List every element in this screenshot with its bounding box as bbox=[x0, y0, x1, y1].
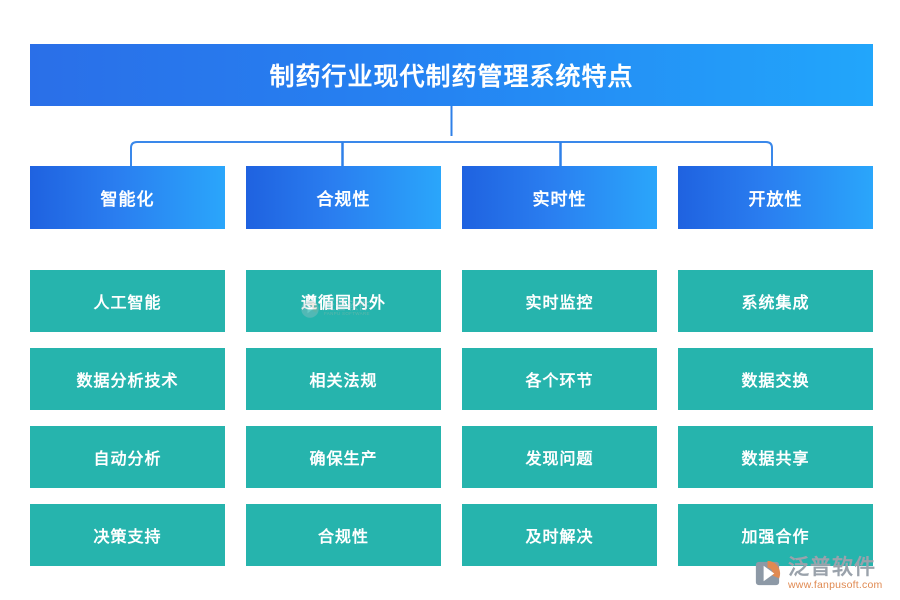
item-label: 及时解决 bbox=[525, 523, 593, 547]
brand-texts: 泛普软件 www.fanpusoft.com bbox=[788, 557, 882, 591]
item-box[interactable]: 各个环节 bbox=[462, 348, 657, 410]
item-box[interactable]: 实时监控 bbox=[462, 270, 657, 332]
item-label: 加强合作 bbox=[741, 523, 809, 547]
item-label: 决策支持 bbox=[93, 523, 161, 547]
fanpu-logo-icon bbox=[752, 558, 783, 589]
item-box[interactable]: 相关法规 bbox=[246, 348, 441, 410]
item-box[interactable]: 遵循国内外 bbox=[246, 270, 441, 332]
item-box[interactable]: 确保生产 bbox=[246, 426, 441, 488]
item-label: 发现问题 bbox=[525, 445, 593, 469]
item-label: 数据共享 bbox=[741, 445, 809, 469]
brand-url: www.fanpusoft.com bbox=[788, 580, 882, 591]
item-label: 实时监控 bbox=[525, 289, 593, 313]
item-label: 数据交换 bbox=[741, 367, 809, 391]
item-label: 自动分析 bbox=[93, 445, 161, 469]
grid-spacer bbox=[30, 245, 873, 254]
item-box[interactable]: 系统集成 bbox=[678, 270, 873, 332]
item-label: 各个环节 bbox=[525, 367, 593, 391]
category-box-3[interactable]: 实时性 bbox=[462, 166, 657, 229]
item-label: 遵循国内外 bbox=[301, 289, 386, 313]
item-box[interactable]: 数据共享 bbox=[678, 426, 873, 488]
item-box[interactable]: 决策支持 bbox=[30, 504, 225, 566]
diagram-title-banner: 制药行业现代制药管理系统特点 bbox=[30, 44, 873, 106]
infographic-canvas: 制药行业现代制药管理系统特点 智能化 合规性 实时性 开放性 人工智能 遵循国内… bbox=[0, 0, 900, 600]
item-label: 合规性 bbox=[318, 523, 369, 547]
item-label: 确保生产 bbox=[309, 445, 377, 469]
category-box-4[interactable]: 开放性 bbox=[678, 166, 873, 229]
brand-logo: 泛普软件 www.fanpusoft.com bbox=[752, 557, 882, 591]
category-label: 合规性 bbox=[317, 185, 371, 210]
item-label: 相关法规 bbox=[309, 367, 377, 391]
category-label: 开放性 bbox=[749, 185, 803, 210]
item-label: 人工智能 bbox=[93, 289, 161, 313]
item-label: 系统集成 bbox=[741, 289, 809, 313]
item-box[interactable]: 及时解决 bbox=[462, 504, 657, 566]
category-box-1[interactable]: 智能化 bbox=[30, 166, 225, 229]
category-label: 智能化 bbox=[101, 185, 155, 210]
category-label: 实时性 bbox=[533, 185, 587, 210]
connector-bracket bbox=[0, 100, 900, 170]
item-box[interactable]: 人工智能 bbox=[30, 270, 225, 332]
feature-grid: 智能化 合规性 实时性 开放性 人工智能 遵循国内外 实时监控 系统集成 数据分… bbox=[30, 166, 873, 566]
item-box[interactable]: 数据分析技术 bbox=[30, 348, 225, 410]
item-box[interactable]: 数据交换 bbox=[678, 348, 873, 410]
page-title: 制药行业现代制药管理系统特点 bbox=[269, 57, 633, 93]
brand-name: 泛普软件 bbox=[788, 557, 882, 578]
item-label: 数据分析技术 bbox=[76, 367, 178, 391]
item-box[interactable]: 发现问题 bbox=[462, 426, 657, 488]
item-box[interactable]: 自动分析 bbox=[30, 426, 225, 488]
category-box-2[interactable]: 合规性 bbox=[246, 166, 441, 229]
item-box[interactable]: 合规性 bbox=[246, 504, 441, 566]
